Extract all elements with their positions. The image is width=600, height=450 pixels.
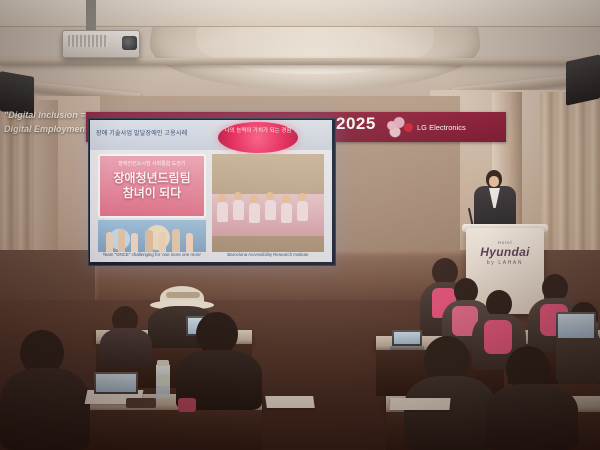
bottle-label	[156, 374, 170, 386]
paper-sheet	[265, 396, 315, 408]
laptop-screen	[96, 374, 136, 392]
slide-photo-right	[212, 154, 324, 252]
slide-title-line1: 장애청년드림팀	[100, 171, 204, 186]
attendee-torso	[404, 376, 496, 450]
projected-slide: 장애 기술사업 발달장애인 고용사례 나의 능력이 가치가 되는 경험 장애인컨…	[90, 120, 332, 262]
projector-mount	[86, 0, 96, 34]
attendee-torso	[0, 368, 90, 450]
banner-logo-dot-icon	[404, 123, 413, 132]
laptop-base	[390, 346, 424, 350]
banner-right-logo-text: LG Electronics	[417, 123, 466, 132]
attendee-torso	[486, 384, 578, 450]
slide-photo-left	[98, 220, 206, 252]
podium-logo-sub-text: by LAHAN	[474, 260, 536, 266]
podium-logo-main-text: Hyundai	[474, 245, 536, 259]
bottle-cap	[157, 360, 169, 366]
slide-header-text: 장애 기술사업 발달장애인 고용사례	[96, 128, 216, 137]
slide-caption-right: Barcelona Accessibility Research Institu…	[212, 252, 324, 257]
slide-title-line2: 참녀이 되다	[100, 186, 204, 201]
attendee-torso	[100, 328, 152, 368]
slide-badge: 나의 능력이 가치가 되는 경험	[218, 122, 298, 153]
phone-device	[126, 398, 156, 408]
slide-title-block: 장애인컨소시엄 사회통합 도전기 장애청년드림팀 참녀이 되다	[98, 154, 206, 218]
conference-hall-photo: "Digital Inclusion = Digital Employment"…	[0, 0, 600, 450]
podium-logo: Hotel Hyundai by LAHAN	[474, 240, 536, 262]
projector-vent	[68, 35, 108, 47]
table-skirt	[72, 410, 262, 450]
slide-caption-left: Team "ONCE" challenging for 'one more on…	[98, 252, 206, 257]
wall-speaker-right-icon	[566, 54, 600, 105]
pink-object	[178, 398, 196, 412]
attendee-lanyard	[484, 320, 512, 354]
presenter-face	[489, 176, 499, 187]
laptop-screen	[394, 332, 420, 344]
ceiling-beam	[0, 58, 600, 65]
paper-sheet	[389, 398, 450, 410]
projector-lens-icon	[122, 36, 137, 50]
banner-right-logo: LG Electronics	[404, 120, 476, 134]
laptop-screen	[558, 314, 594, 338]
wall-slogan-panel: "Digital Inclusion = Digital Employment"	[0, 108, 100, 152]
hat-band	[166, 292, 200, 298]
slide-kicker-text: 장애인컨소시엄 사회통합 도전기	[100, 161, 204, 168]
